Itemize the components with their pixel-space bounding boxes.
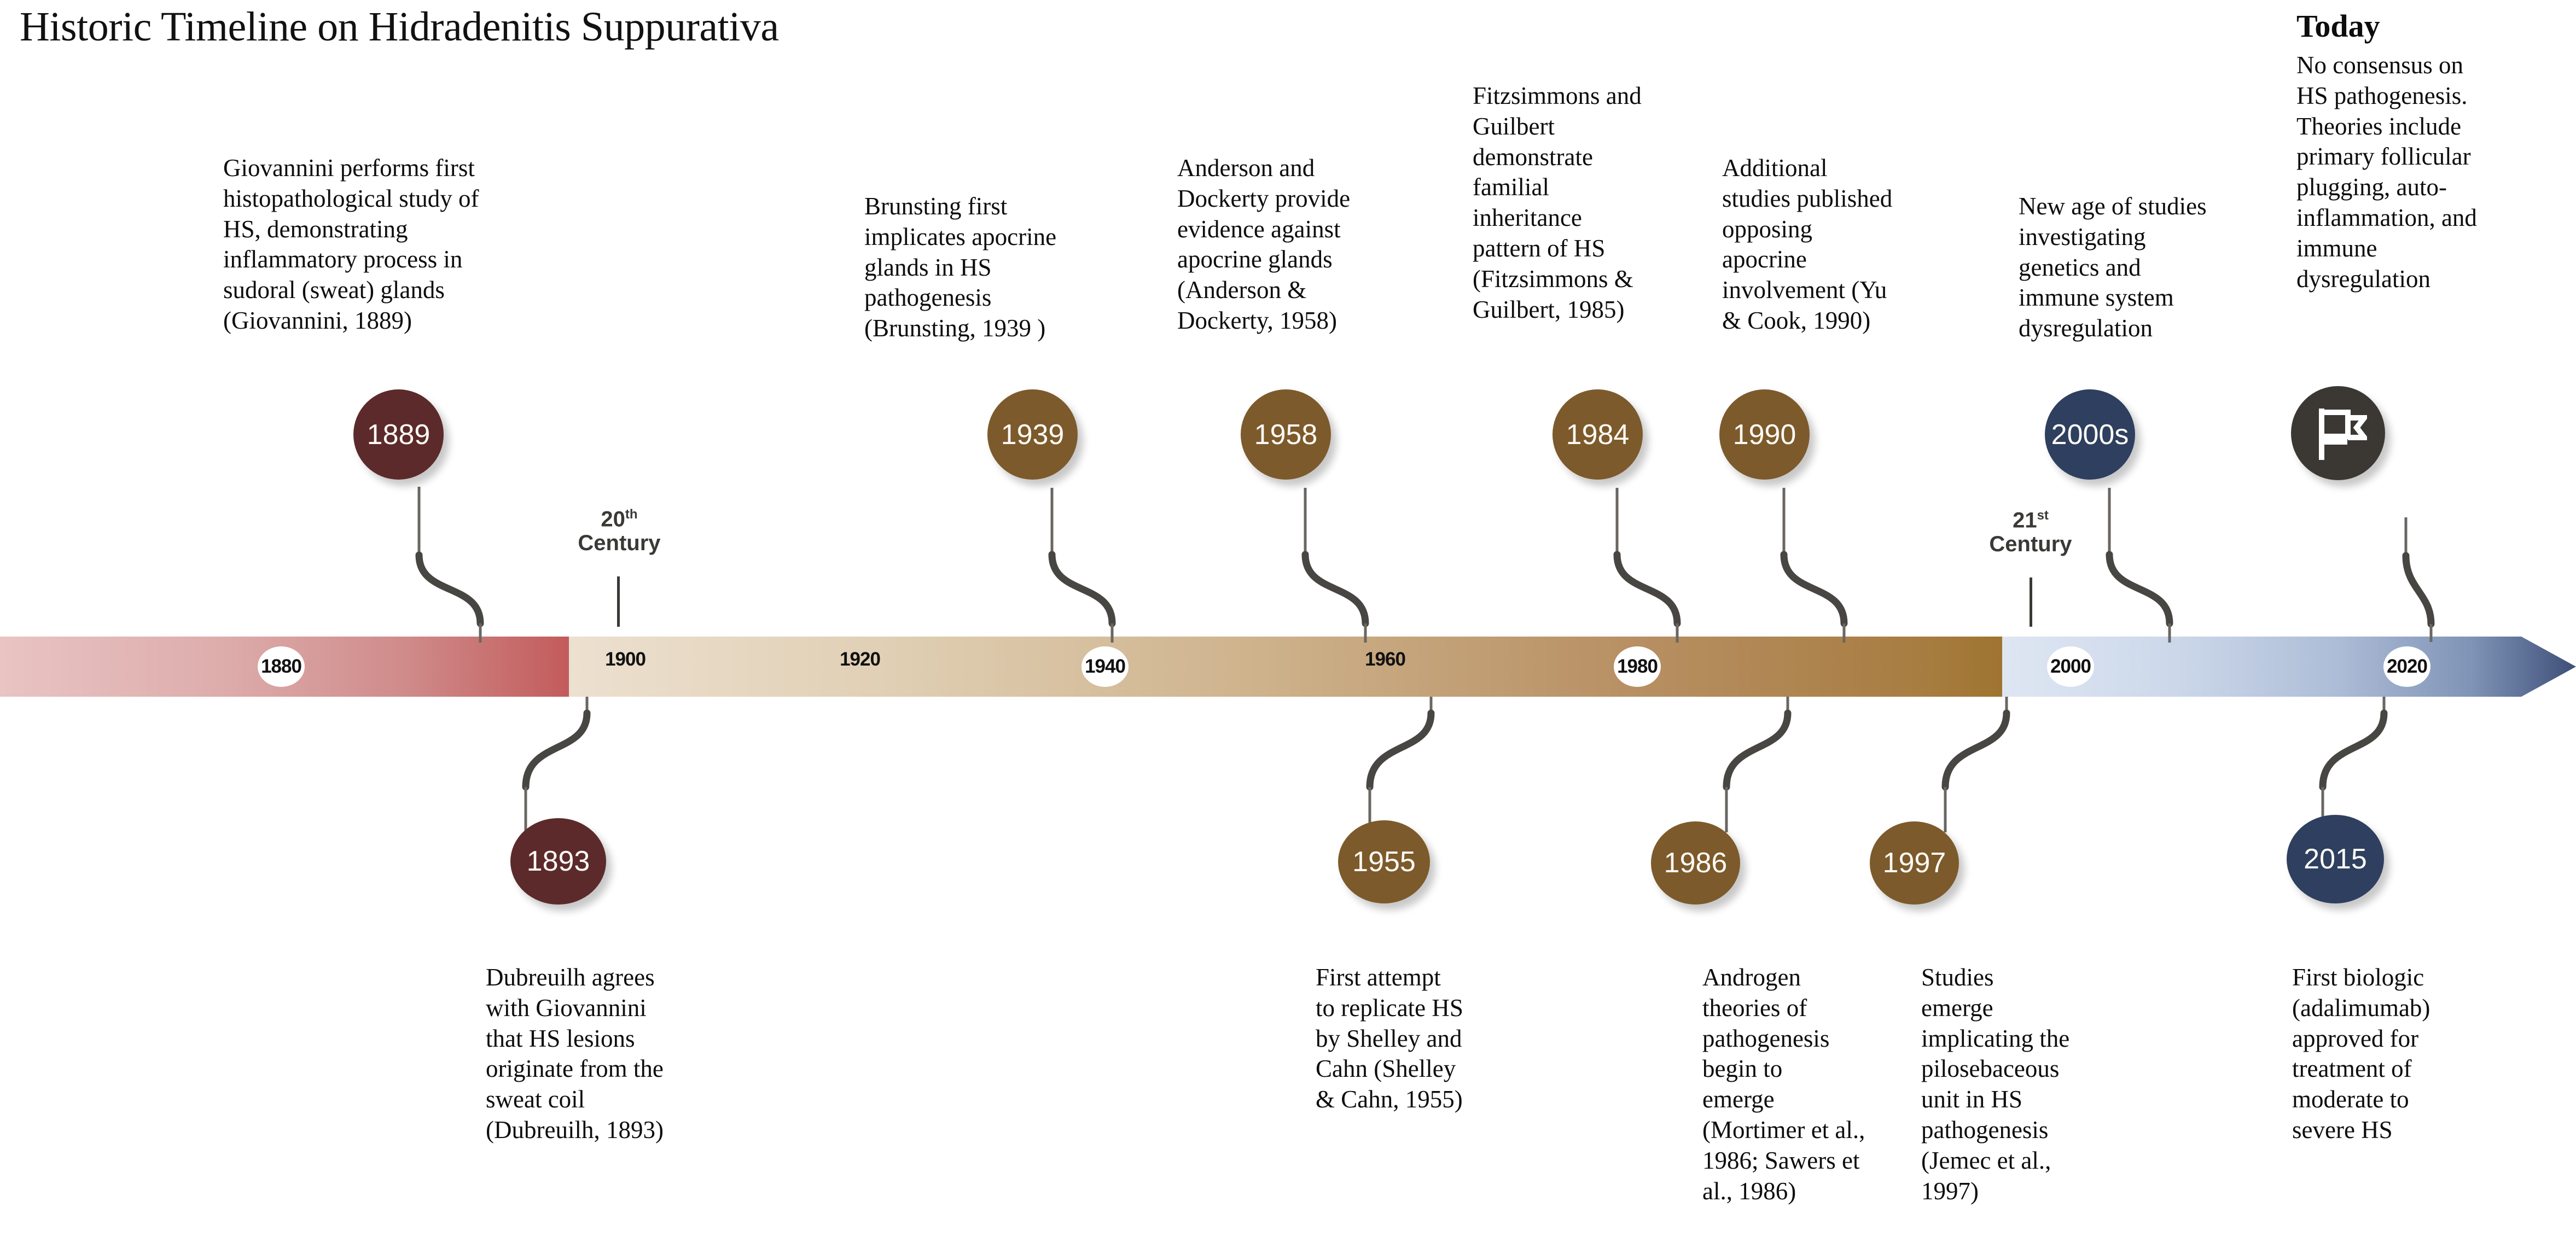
event-text-1984: Fitzsimmons and Guilbert demonstrate fam… (1473, 81, 1686, 325)
event-node-1889[interactable]: 1889 (353, 389, 444, 480)
connector-1984 (1581, 488, 1690, 643)
timeline-infographic: Historic Timeline on Hidradenitis Suppur… (0, 0, 2576, 1260)
connector-1939 (1016, 488, 1125, 643)
century-20-word: Century (578, 531, 660, 555)
connector-1997 (1909, 697, 2030, 832)
connector-1889 (383, 487, 492, 643)
event-node-2015[interactable]: 2015 (2287, 815, 2384, 903)
event-node-1990[interactable]: 1990 (1719, 389, 1810, 480)
event-node-1955[interactable]: 1955 (1338, 820, 1430, 903)
axis-year-1960: 1960 (1352, 649, 1418, 670)
century-21-number: 21 (2013, 508, 2037, 532)
event-text-2000s: New age of studies investigating genetic… (2019, 191, 2254, 344)
today-body-text: No consensus on HS pathogenesis. Theorie… (2296, 50, 2504, 294)
century-21-tick (2030, 577, 2032, 627)
event-node-1893[interactable]: 1893 (510, 818, 606, 905)
connector-1955 (1334, 697, 1454, 832)
today-heading: Today (2296, 8, 2380, 44)
century-21-ordinal: st (2037, 508, 2049, 523)
century-marker-20th: 20th Century (559, 507, 679, 555)
event-text-1990: Additional studies published opposing ap… (1722, 153, 1952, 336)
event-text-1939: Brunsting first implicates apocrine glan… (864, 191, 1127, 344)
century-20-ordinal: th (625, 507, 638, 522)
connector-2015 (2287, 697, 2407, 832)
event-node-2000s[interactable]: 2000s (2045, 389, 2135, 480)
flag-icon (2310, 405, 2367, 462)
axis-year-1920: 1920 (827, 649, 893, 670)
connector-1986 (1690, 697, 1811, 832)
connector-1958 (1269, 488, 1379, 643)
century-20-tick (617, 576, 620, 627)
axis-year-2000: 2000 (2047, 646, 2094, 687)
event-node-1939[interactable]: 1939 (987, 389, 1078, 480)
event-text-1986: Androgen theories of pathogenesis begin … (1702, 962, 1910, 1206)
timeline-axis (0, 637, 2576, 697)
axis-year-1900: 1900 (592, 649, 658, 670)
event-text-1958: Anderson and Dockerty provide evidence a… (1177, 153, 1412, 336)
connector-today (2372, 517, 2438, 642)
axis-year-1940: 1940 (1081, 646, 1129, 687)
axis-year-1980: 1980 (1614, 646, 1661, 687)
century-marker-21st: 21st Century (1970, 509, 2091, 556)
axis-segment-19th-century (0, 637, 624, 697)
event-node-1997[interactable]: 1997 (1870, 821, 1959, 905)
axis-year-2020: 2020 (2383, 646, 2430, 687)
event-text-1889: Giovannini performs first histopathologi… (223, 153, 562, 336)
axis-segment-20th-century (569, 637, 2035, 697)
connector-1990 (1748, 488, 1857, 643)
event-text-2015: First biologic (adalimumab) approved for… (2292, 962, 2489, 1146)
century-20-number: 20 (601, 507, 625, 531)
event-text-1997: Studies emerge implicating the pilosebac… (1921, 962, 2102, 1206)
event-text-1893: Dubreuilh agrees with Giovannini that HS… (486, 962, 770, 1146)
event-node-1984[interactable]: 1984 (1552, 389, 1643, 480)
connector-1893 (490, 697, 610, 832)
century-21-word: Century (1989, 532, 2072, 556)
today-flag-node[interactable] (2291, 386, 2385, 480)
axis-year-1880: 1880 (258, 646, 305, 687)
connector-2000s (2073, 488, 2183, 643)
event-node-1958[interactable]: 1958 (1241, 389, 1331, 480)
event-node-1986[interactable]: 1986 (1651, 821, 1740, 905)
page-title: Historic Timeline on Hidradenitis Suppur… (20, 3, 779, 51)
event-text-1955: First attempt to replicate HS by Shelley… (1316, 962, 1513, 1115)
